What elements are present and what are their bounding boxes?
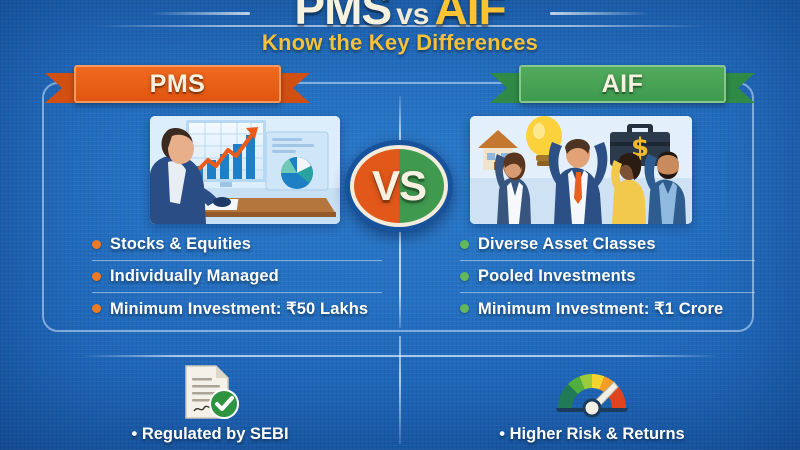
bullet-dot-icon	[92, 304, 101, 313]
ribbon-pms: PMS	[45, 65, 310, 103]
vs-badge: VS	[345, 140, 453, 232]
list-item: Minimum Investment: ₹1 Crore	[460, 292, 755, 324]
list-item-label: Individually Managed	[110, 267, 279, 286]
bullet-list-aif: Diverse Asset Classes Pooled Investments…	[460, 228, 755, 324]
list-item-label: Diverse Asset Classes	[478, 235, 656, 254]
title-part-pms: PMS	[294, 0, 391, 34]
footer-pms: • Regulated by SEBI	[30, 363, 390, 444]
bullet-dot-icon	[460, 272, 469, 281]
investor-group-icon: $	[470, 116, 692, 224]
footer-center-divider	[399, 336, 401, 444]
title-part-aif: AIF	[434, 0, 505, 34]
bullet-dot-icon	[460, 304, 469, 313]
list-item: Individually Managed	[92, 260, 382, 292]
list-item: Pooled Investments	[460, 260, 755, 292]
page-subtitle: Know the Key Differences	[0, 30, 800, 56]
bullet-dot-icon	[460, 240, 469, 249]
list-item: Diverse Asset Classes	[460, 228, 755, 260]
infographic-canvas: PMSvsAIF Know the Key Differences PMS AI…	[0, 0, 800, 450]
list-item-label: Minimum Investment: ₹50 Lakhs	[110, 299, 368, 319]
document-with-green-check-icon	[178, 364, 242, 420]
list-item: Minimum Investment: ₹50 Lakhs	[92, 292, 382, 324]
ribbon-pms-label: PMS	[74, 65, 281, 103]
bullet-list-pms: Stocks & Equities Individually Managed M…	[92, 228, 382, 324]
bullet-dot-icon	[92, 240, 101, 249]
vs-badge-label: VS	[345, 140, 453, 232]
list-item-label: Minimum Investment: ₹1 Crore	[478, 299, 723, 319]
ribbon-aif: AIF	[490, 65, 755, 103]
ribbon-aif-label: AIF	[519, 65, 726, 103]
illustration-pms-analyst	[150, 116, 340, 224]
risk-gauge-icon	[412, 363, 772, 421]
analyst-at-desk-icon	[150, 116, 340, 224]
title-part-vs: vs	[396, 0, 429, 31]
footer-aif-label: • Higher Risk & Returns	[412, 425, 772, 444]
footer-aif: • Higher Risk & Returns	[412, 363, 772, 444]
list-item-label: Stocks & Equities	[110, 235, 251, 254]
document-check-icon	[30, 363, 390, 421]
footer-pms-label: • Regulated by SEBI	[30, 425, 390, 444]
bullet-dot-icon	[92, 272, 101, 281]
list-item-label: Pooled Investments	[478, 267, 636, 286]
list-item: Stocks & Equities	[92, 228, 382, 260]
illustration-aif-investor-group: $	[470, 116, 692, 224]
risk-gauge-speedometer-icon	[553, 366, 631, 418]
